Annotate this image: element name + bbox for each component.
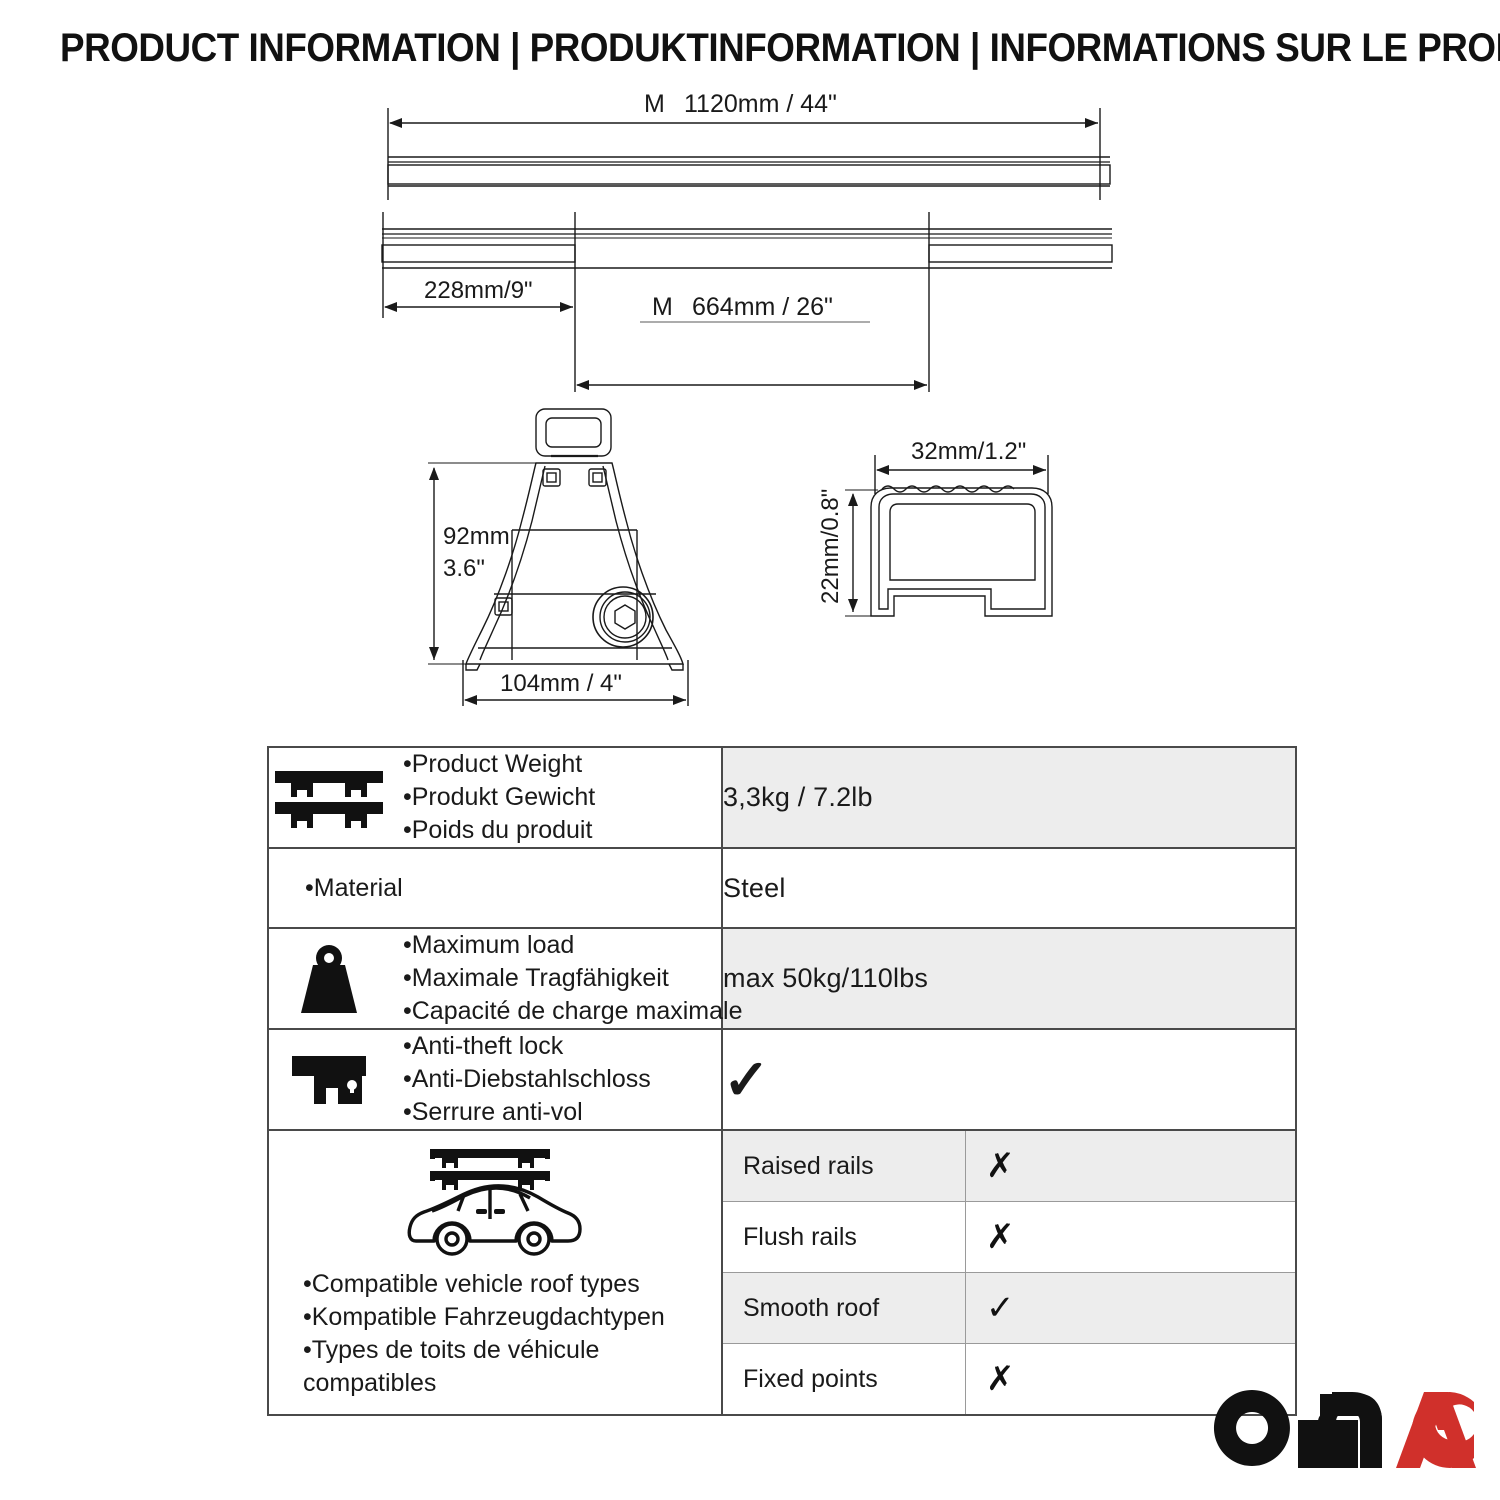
spread-label: M [652,293,673,321]
roof-type-support: ✓ [966,1273,1296,1344]
end-offset-dim: 228mm/9" [424,277,533,304]
label-line: •Anti-Diebstahlschloss [403,1063,651,1096]
roof-type-support: ✗ [966,1202,1296,1273]
spec-value-lock: ✓ [722,1029,1296,1130]
roof-type-row: Raised rails ✗ [723,1131,1295,1202]
roof-type-support: ✗ [966,1131,1296,1202]
roof-type-row: Flush rails ✗ [723,1202,1295,1273]
spec-label-cell-max-load: •Maximum load •Maximale Tragfähigkeit •C… [268,928,722,1029]
roof-type-name: Raised rails [723,1131,966,1202]
label-line: •Product Weight [403,748,595,781]
label-line: •Produkt Gewicht [403,781,595,814]
label-line: •Maximale Tragfähigkeit [403,962,742,995]
drawing-canvas: M 1120mm / 44" 228mm/9" M 664mm / 26" 92… [0,0,1500,740]
lock-icon [269,1052,389,1108]
label-line: •Kompatible Fahrzeugdachtypen [303,1301,721,1334]
compat-label-text: •Compatible vehicle roof types •Kompatib… [269,1268,721,1400]
spec-value-weight: 3,3kg / 7.2lb [722,747,1296,848]
foot-width-dim: 104mm / 4" [500,670,622,697]
spec-label-cell-material: •Material [268,848,722,928]
foot-height-dim-line2: 3.6" [443,555,485,582]
profile-width-dim: 32mm/1.2" [911,438,1026,465]
table-row: •Product Weight •Produkt Gewicht •Poids … [268,747,1296,848]
omac-logo-mark [1210,1386,1480,1472]
product-spec-table: •Product Weight •Produkt Gewicht •Poids … [267,746,1297,1416]
spec-label-text-material: •Material [269,872,721,905]
omac-logo [1210,1386,1480,1472]
check-mark-icon: ✓ [723,1048,770,1111]
bar-length-value: 1120mm / 44" [684,90,837,118]
spec-label-cell-weight: •Product Weight •Produkt Gewicht •Poids … [268,747,722,848]
crossbars-icon [269,767,389,829]
spec-label-text-max-load: •Maximum load •Maximale Tragfähigkeit •C… [403,929,742,1028]
table-row: •Compatible vehicle roof types •Kompatib… [268,1130,1296,1415]
bar-length-label: M [644,90,665,118]
technical-drawing: M 1120mm / 44" 228mm/9" M 664mm / 26" 92… [0,0,1500,740]
compat-label-cell: •Compatible vehicle roof types •Kompatib… [268,1130,722,1415]
label-line: •Poids du produit [403,814,595,847]
spec-label-cell-lock: •Anti-theft lock •Anti-Diebstahlschloss … [268,1029,722,1130]
cross-mark-icon: ✗ [986,1218,1015,1256]
foot-height-dim-line1: 92mm [443,523,510,550]
car-with-crossbars-icon [269,1145,721,1268]
label-line: •Compatible vehicle roof types [303,1268,721,1301]
cross-mark-icon: ✗ [986,1147,1015,1185]
label-line: •Capacité de charge maximale [403,995,742,1028]
roof-types-table: Raised rails ✗ Flush rails ✗ [723,1131,1295,1414]
label-line: •Maximum load [403,929,742,962]
table-row: •Maximum load •Maximale Tragfähigkeit •C… [268,928,1296,1029]
roof-type-name: Flush rails [723,1202,966,1273]
label-line: compatibles [303,1367,721,1400]
label-line: •Serrure anti-vol [403,1096,651,1129]
weight-icon [269,943,389,1015]
spec-label-text-weight: •Product Weight •Produkt Gewicht •Poids … [403,748,595,847]
spec-value-max-load: max 50kg/110lbs [722,928,1296,1029]
spec-value-material: Steel [722,848,1296,928]
check-mark-icon: ✓ [986,1289,1015,1327]
table-row: •Anti-theft lock •Anti-Diebstahlschloss … [268,1029,1296,1130]
roof-types-cell: Raised rails ✗ Flush rails ✗ [722,1130,1296,1415]
roof-type-row: Smooth roof ✓ [723,1273,1295,1344]
spread-value: 664mm / 26" [692,293,833,321]
label-line: •Anti-theft lock [403,1030,651,1063]
profile-height-dim: 22mm/0.8" [817,489,844,604]
spec-label-text-lock: •Anti-theft lock •Anti-Diebstahlschloss … [403,1030,651,1129]
roof-type-name: Fixed points [723,1344,966,1415]
table-row: •Material Steel [268,848,1296,928]
label-line: •Types de toits de véhicule [303,1334,721,1367]
roof-type-name: Smooth roof [723,1273,966,1344]
cross-mark-icon: ✗ [986,1360,1015,1398]
